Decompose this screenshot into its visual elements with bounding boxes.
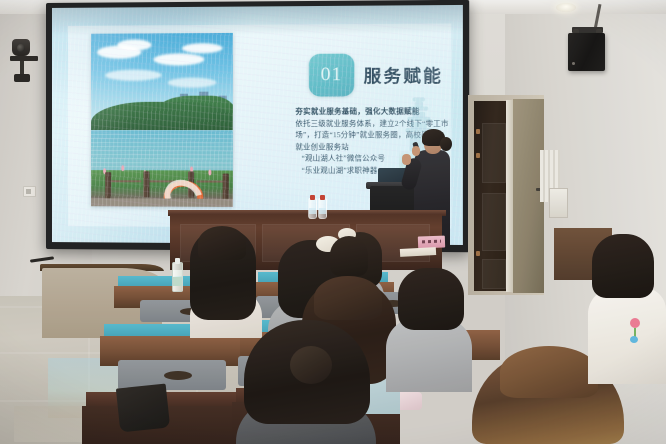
water-bottle <box>308 198 317 219</box>
power-outlet-upper <box>23 186 36 197</box>
wall-control-panel[interactable] <box>549 188 568 218</box>
screenshot-scene: 01 服务赋能 夯实就业服务基础，强化大数据赋能 依托三级就业服务体系，建立2个… <box>0 0 666 444</box>
chair-back <box>118 360 226 390</box>
hand-sanitizer-bottle <box>172 262 183 292</box>
camera-lens-icon <box>17 44 25 52</box>
water-bottle <box>318 198 327 219</box>
recessed-downlight-icon <box>556 3 576 12</box>
bag <box>116 384 170 433</box>
shirt-flower-print <box>630 318 640 328</box>
